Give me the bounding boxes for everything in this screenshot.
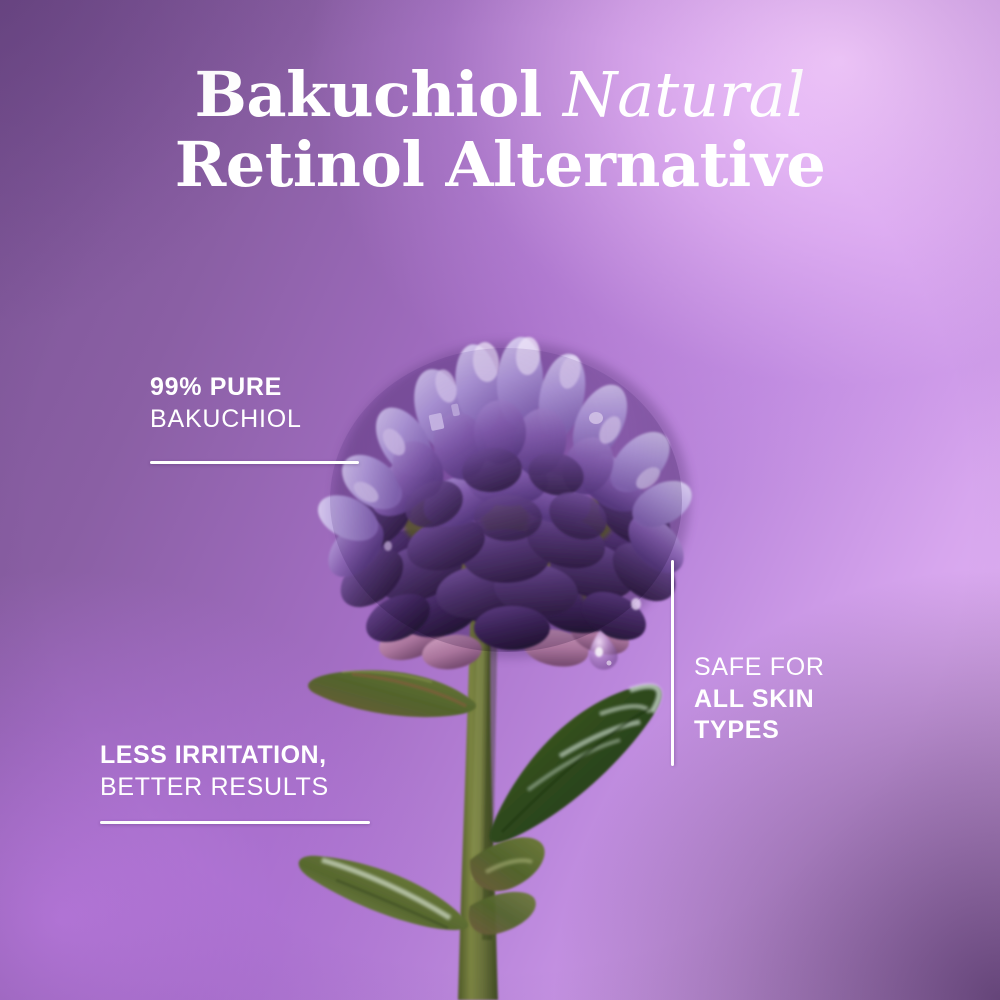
callout-pure-regular-line: BAKUCHIOL [150,405,302,434]
callout-less-bold-line: LESS IRRITATION, [100,741,329,770]
page-title: Bakuchiol Natural Retinol Alternative [0,64,1000,196]
callout-pure-leader-line [150,461,359,464]
headline-line-1: Bakuchiol Natural [0,64,1000,125]
callout-less-leader-line [100,821,370,824]
headline-regular-part: Bakuchiol [195,58,563,131]
headline-italic-part: Natural [563,58,806,131]
callout-less-irritation: LESS IRRITATION, BETTER RESULTS [100,741,329,801]
callout-safe-regular-line: SAFE FOR [694,653,825,682]
callout-safe-for-all-skin-types: SAFE FOR ALL SKIN TYPES [694,650,825,745]
callout-less-regular-line: BETTER RESULTS [100,773,329,802]
callout-pure-bakuchiol: 99% PURE BAKUCHIOL [150,373,302,433]
callout-safe-leader-line [671,560,674,766]
promo-graphic: Bakuchiol Natural Retinol Alternative 99… [0,0,1000,1000]
callout-pure-bold-line: 99% PURE [150,373,302,402]
callout-safe-bold-line-2: TYPES [694,716,825,745]
callout-safe-bold-line-1: ALL SKIN [694,685,825,714]
headline-line-2: Retinol Alternative [0,134,1000,195]
